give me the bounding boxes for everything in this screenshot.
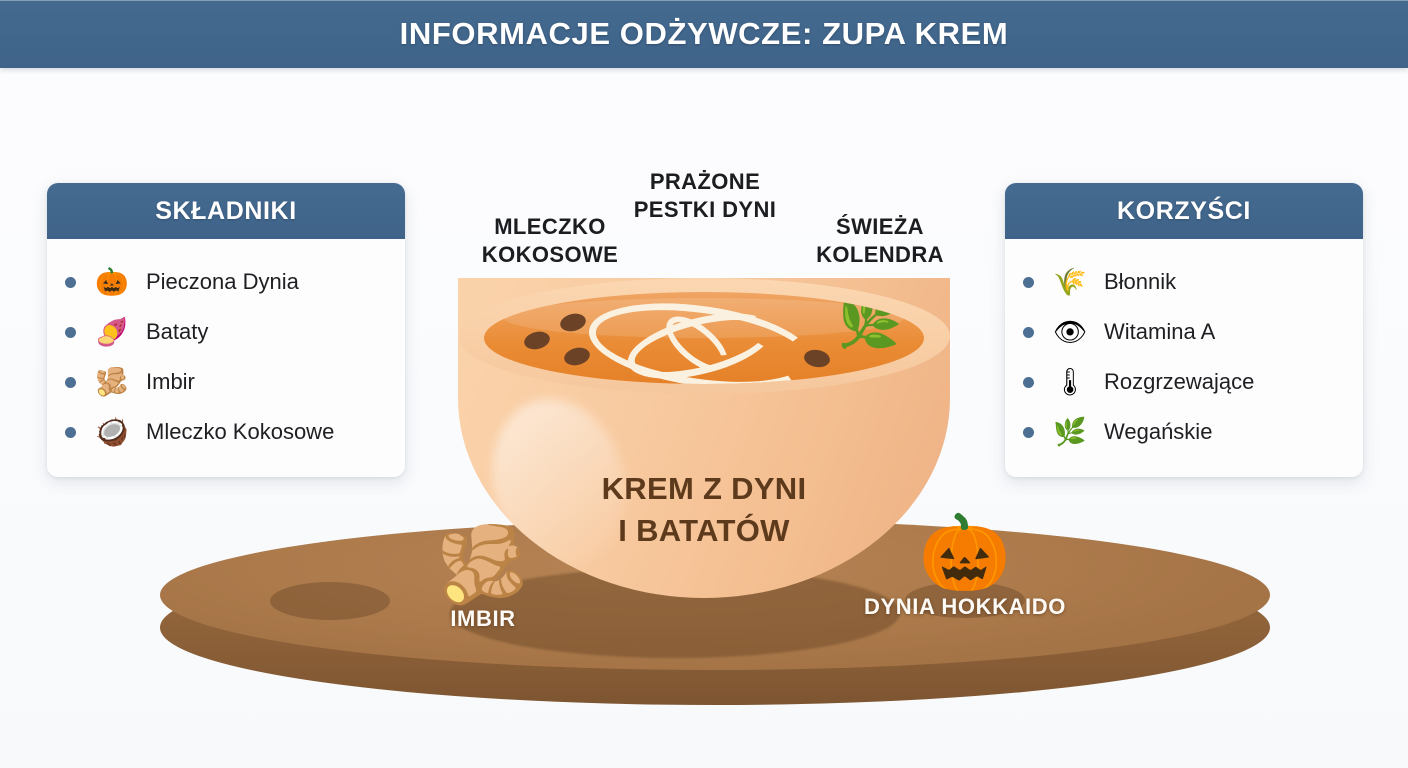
bullet-icon [65, 377, 76, 388]
list-item[interactable]: 🌾 Błonnik [1005, 257, 1363, 307]
bullet-icon [65, 327, 76, 338]
list-item-label: Imbir [146, 369, 195, 395]
callout-fresh-coriander: ŚWIEŻA KOLENDRA [785, 213, 975, 269]
prop-ginger: 🫚 IMBIR [408, 528, 558, 630]
list-item-label: Pieczona Dynia [146, 269, 299, 295]
ginger-shadow [270, 582, 390, 620]
list-item[interactable]: 🥥 Mleczko Kokosowe [47, 407, 405, 457]
thermometer-icon: 🌡 [1048, 369, 1092, 396]
bullet-icon [65, 427, 76, 438]
coconut-icon: 🥥 [90, 419, 134, 446]
benefits-card-title: KORZYŚCI [1005, 183, 1363, 239]
soup-surface: 🌿 [484, 292, 924, 384]
pumpkin-icon: 🎃 [90, 269, 134, 296]
bullet-icon [1023, 277, 1034, 288]
list-item[interactable]: 🌿 Wegańskie [1005, 407, 1363, 457]
ginger-icon: 🫚 [90, 369, 134, 396]
ginger-icon: 🫚 [408, 528, 558, 602]
list-item-label: Błonnik [1104, 269, 1176, 295]
benefits-list: 🌾 Błonnik 👁 Witamina A 🌡 Rozgrzewające 🌿… [1005, 239, 1363, 477]
ingredients-list: 🎃 Pieczona Dynia 🍠 Bataty 🫚 Imbir 🥥 Mlec… [47, 239, 405, 477]
list-item-label: Rozgrzewające [1104, 369, 1254, 395]
list-item[interactable]: 🎃 Pieczona Dynia [47, 257, 405, 307]
ingredients-card: SKŁADNIKI 🎃 Pieczona Dynia 🍠 Bataty 🫚 Im… [47, 183, 405, 477]
pumpkin-icon: 🎃 [860, 516, 1070, 590]
eye-icon: 👁 [1048, 319, 1092, 346]
list-item-label: Witamina A [1104, 319, 1215, 345]
pumpkin-seed-icon [562, 345, 591, 368]
infographic-canvas: INFORMACJE ODŻYWCZE: ZUPA KREM [0, 0, 1408, 768]
bowl-caption-line1: KREM Z DYNI [602, 471, 807, 506]
ingredients-card-title: SKŁADNIKI [47, 183, 405, 239]
list-item-label: Bataty [146, 319, 208, 345]
prop-pumpkin-label: DYNIA HOKKAIDO [860, 596, 1070, 618]
pumpkin-seed-icon [522, 329, 551, 352]
sweet-potato-icon: 🍠 [90, 319, 134, 346]
bowl-caption-line2: I BATATÓW [618, 513, 789, 548]
list-item[interactable]: 🌡 Rozgrzewające [1005, 357, 1363, 407]
list-item[interactable]: 🫚 Imbir [47, 357, 405, 407]
bullet-icon [65, 277, 76, 288]
wheat-icon: 🌾 [1048, 269, 1092, 296]
list-item-label: Mleczko Kokosowe [146, 419, 334, 445]
prop-pumpkin: 🎃 DYNIA HOKKAIDO [860, 516, 1070, 618]
callout-roasted-pumpkin-seeds: PRAŻONE PESTKI DYNI [610, 168, 800, 224]
list-item-label: Wegańskie [1104, 419, 1212, 445]
list-item[interactable]: 🍠 Bataty [47, 307, 405, 357]
leaf-icon: 🌿 [1048, 419, 1092, 446]
benefits-card: KORZYŚCI 🌾 Błonnik 👁 Witamina A 🌡 Rozgrz… [1005, 183, 1363, 477]
bullet-icon [1023, 377, 1034, 388]
list-item[interactable]: 👁 Witamina A [1005, 307, 1363, 357]
prop-ginger-label: IMBIR [408, 608, 558, 630]
bullet-icon [1023, 427, 1034, 438]
coriander-leaf-icon: 🌿 [833, 292, 907, 354]
bullet-icon [1023, 327, 1034, 338]
